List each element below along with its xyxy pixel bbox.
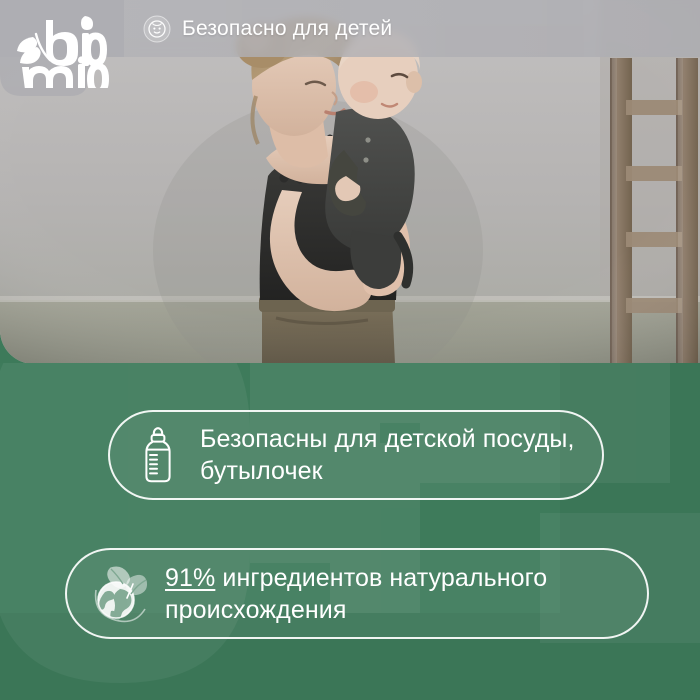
natural-label: ингредиентов натурального происхождения xyxy=(165,564,547,624)
header-title: Безопасно для детей xyxy=(182,13,392,45)
natural-percent-value: 91% xyxy=(165,564,215,592)
feature-card-bottle-text: Безопасны для детской посуды, бутылочек xyxy=(200,423,602,487)
feature-card-natural-text: 91% ингредиентов натурального происхожде… xyxy=(165,562,647,626)
baby-bottle-icon xyxy=(138,426,178,484)
promo-banner: Безопасно для детей xyxy=(0,0,700,700)
biomio-leaf-logo xyxy=(16,14,112,88)
globe-leaf-icon xyxy=(89,564,151,624)
feature-card-natural[interactable]: 91% ингредиентов натурального происхожде… xyxy=(65,548,649,639)
baby-face-icon xyxy=(143,15,171,43)
feature-card-bottle[interactable]: Безопасны для детской посуды, бутылочек xyxy=(108,410,604,500)
